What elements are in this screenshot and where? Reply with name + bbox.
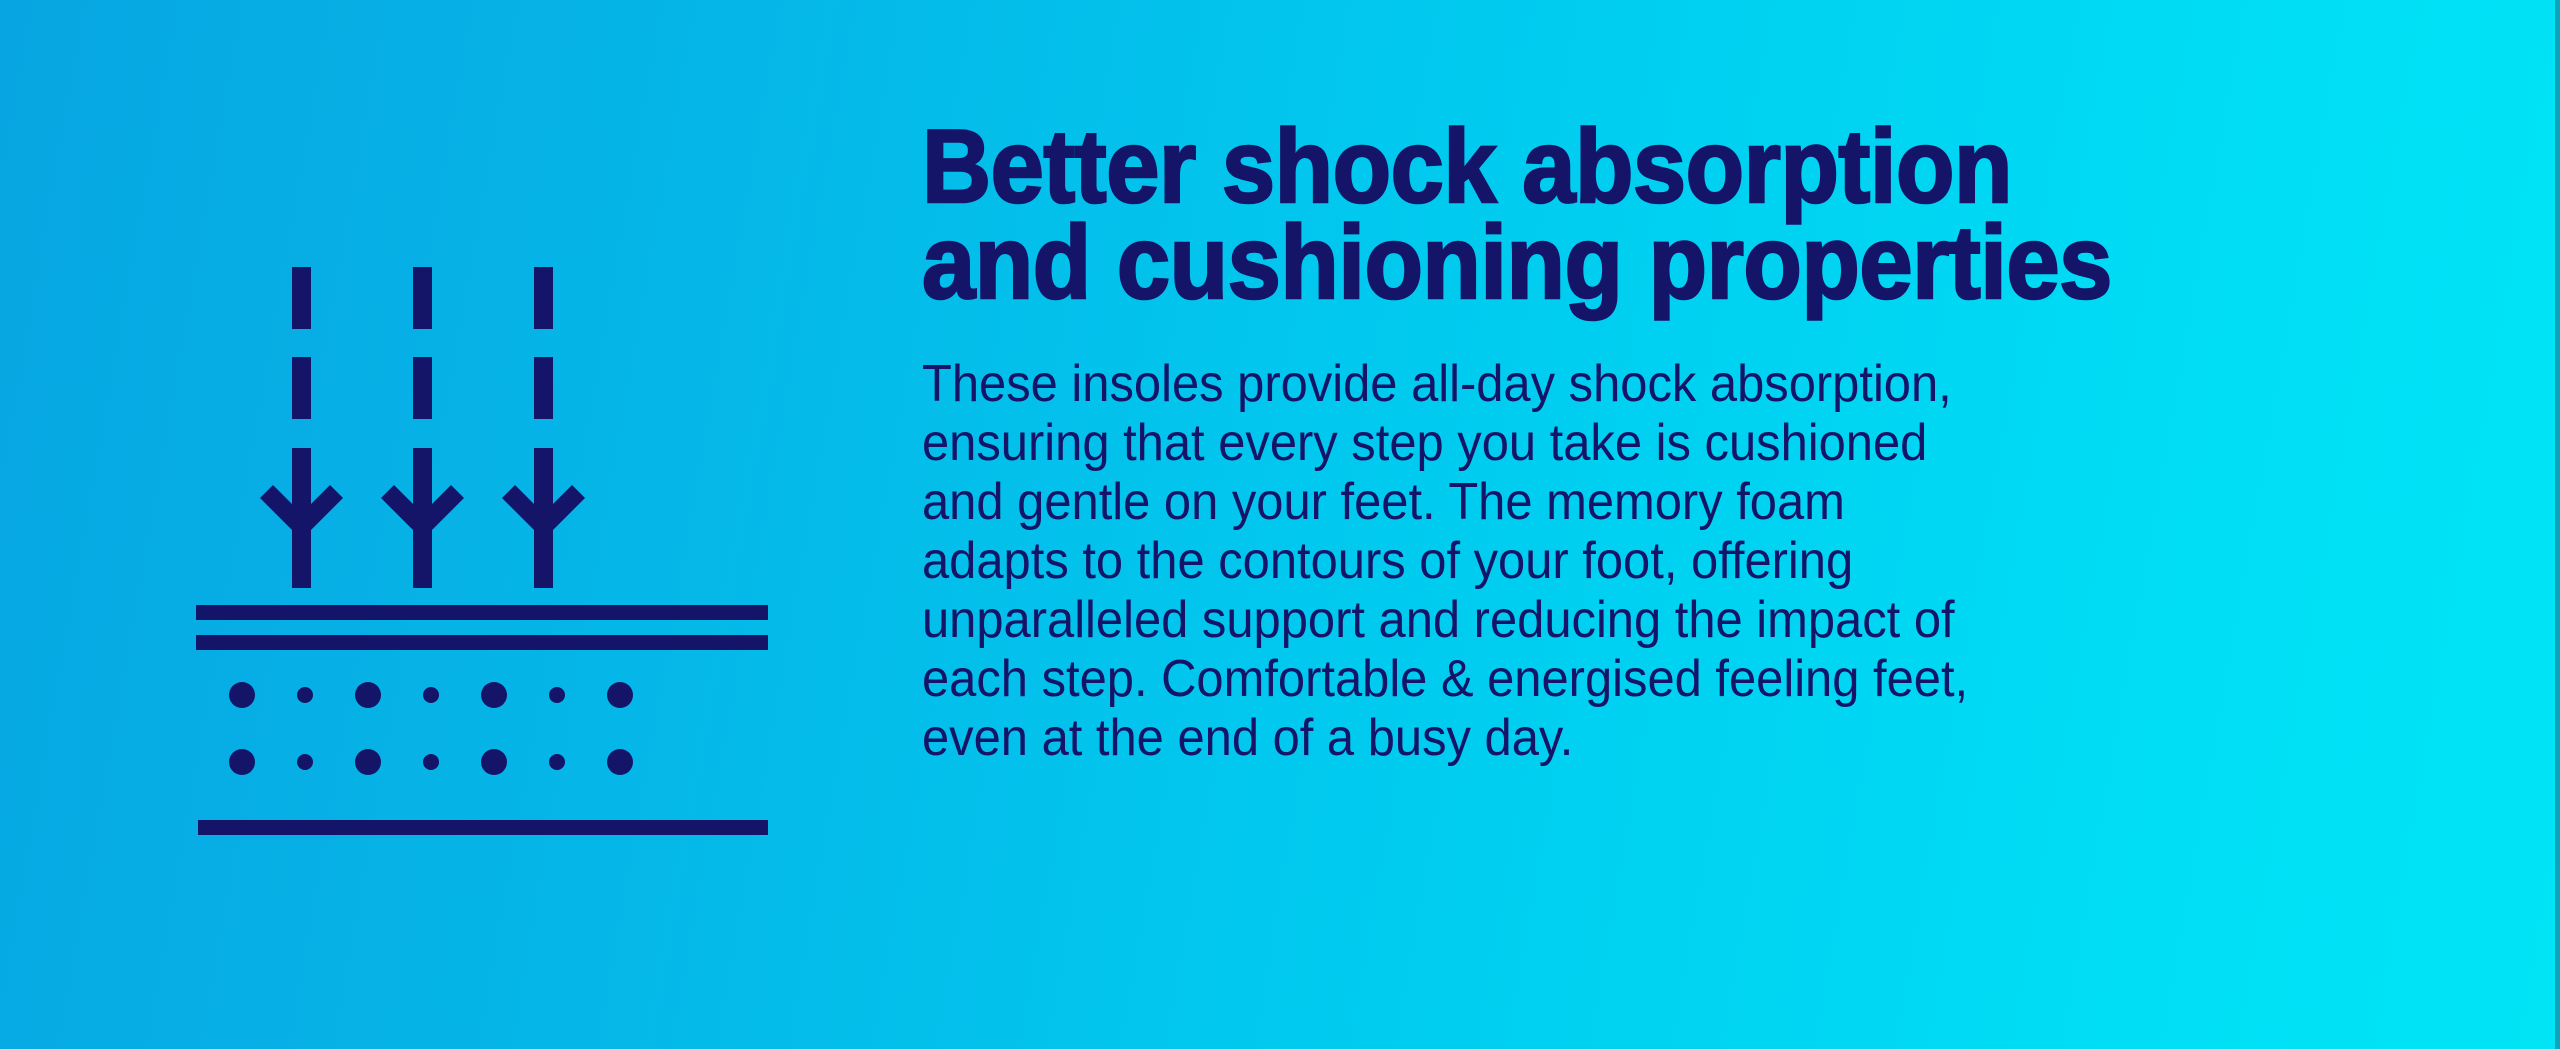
right-edge-strip bbox=[2555, 0, 2560, 1049]
insole-top-line-1 bbox=[196, 605, 768, 620]
down-arrow-icon-2 bbox=[381, 267, 464, 588]
insole-top-line-2 bbox=[196, 635, 768, 650]
shock-absorption-diagram bbox=[180, 250, 790, 850]
headline-line-1: Better shock absorption bbox=[922, 120, 2284, 216]
down-arrow-icon-3 bbox=[502, 267, 585, 588]
body-line-5: unparalleled support and reducing the im… bbox=[922, 591, 2313, 650]
insole-bottom-line bbox=[198, 820, 768, 835]
body-line-7: even at the end of a busy day. bbox=[922, 709, 2313, 768]
headline-line-2: and cushioning properties bbox=[922, 216, 2284, 312]
shock-absorption-diagram-svg bbox=[180, 250, 790, 850]
body-line-1: These insoles provide all-day shock abso… bbox=[922, 355, 2313, 414]
foam-dot-row-2 bbox=[229, 749, 633, 775]
body-line-2: ensuring that every step you take is cus… bbox=[922, 414, 2313, 473]
body-line-3: and gentle on your feet. The memory foam bbox=[922, 473, 2313, 532]
shock-absorption-banner: Better shock absorption and cushioning p… bbox=[0, 0, 2560, 1049]
text-column: Better shock absorption and cushioning p… bbox=[922, 120, 2402, 768]
body-line-6: each step. Comfortable & energised feeli… bbox=[922, 650, 2313, 709]
page-title: Better shock absorption and cushioning p… bbox=[922, 120, 2284, 311]
down-arrow-icon-1 bbox=[260, 267, 343, 588]
foam-dot-row-1 bbox=[229, 682, 633, 708]
body-paragraph: These insoles provide all-day shock abso… bbox=[922, 311, 2313, 768]
body-line-4: adapts to the contours of your foot, off… bbox=[922, 532, 2313, 591]
